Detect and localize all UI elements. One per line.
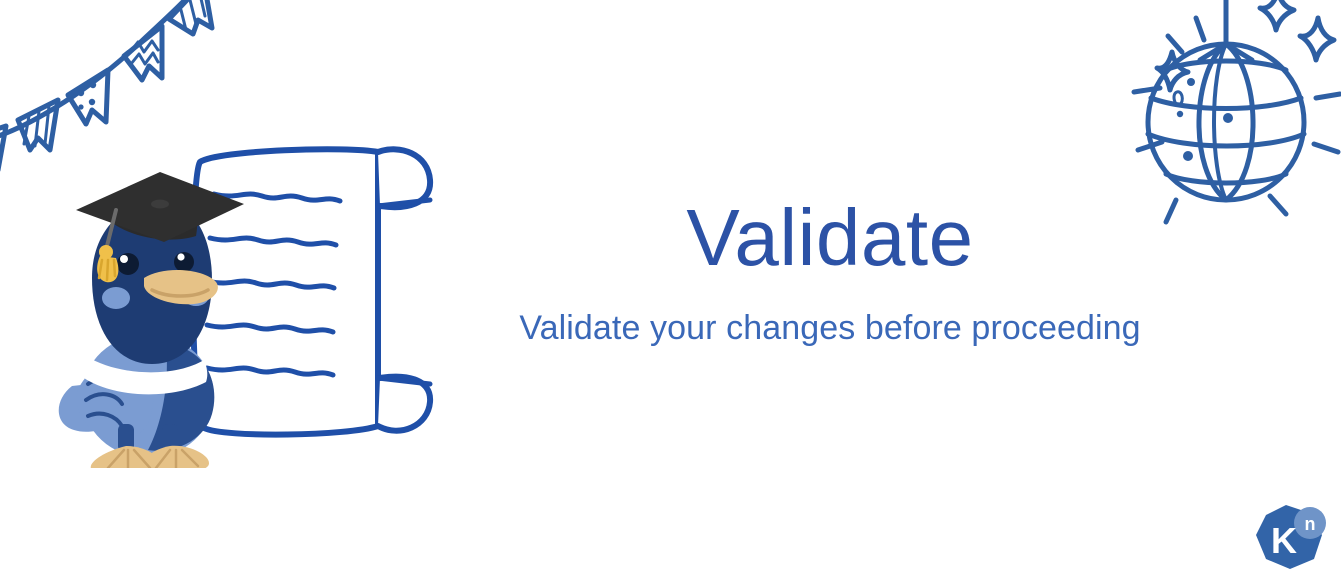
slide-canvas: Validate Validate your changes before pr… [0,0,1341,585]
logo-badge-letter: n [1305,514,1316,534]
page-title: Validate [470,196,1190,280]
text-block: Validate Validate your changes before pr… [470,196,1190,349]
logo-primary-letter: K [1271,520,1297,561]
disco-ball-icon [1118,0,1341,229]
kn-logo[interactable]: K n [1252,503,1328,575]
mascot-scroll-group [48,138,468,468]
diploma-scroll-icon [193,149,430,434]
page-subtitle: Validate your changes before proceeding [470,308,1190,349]
